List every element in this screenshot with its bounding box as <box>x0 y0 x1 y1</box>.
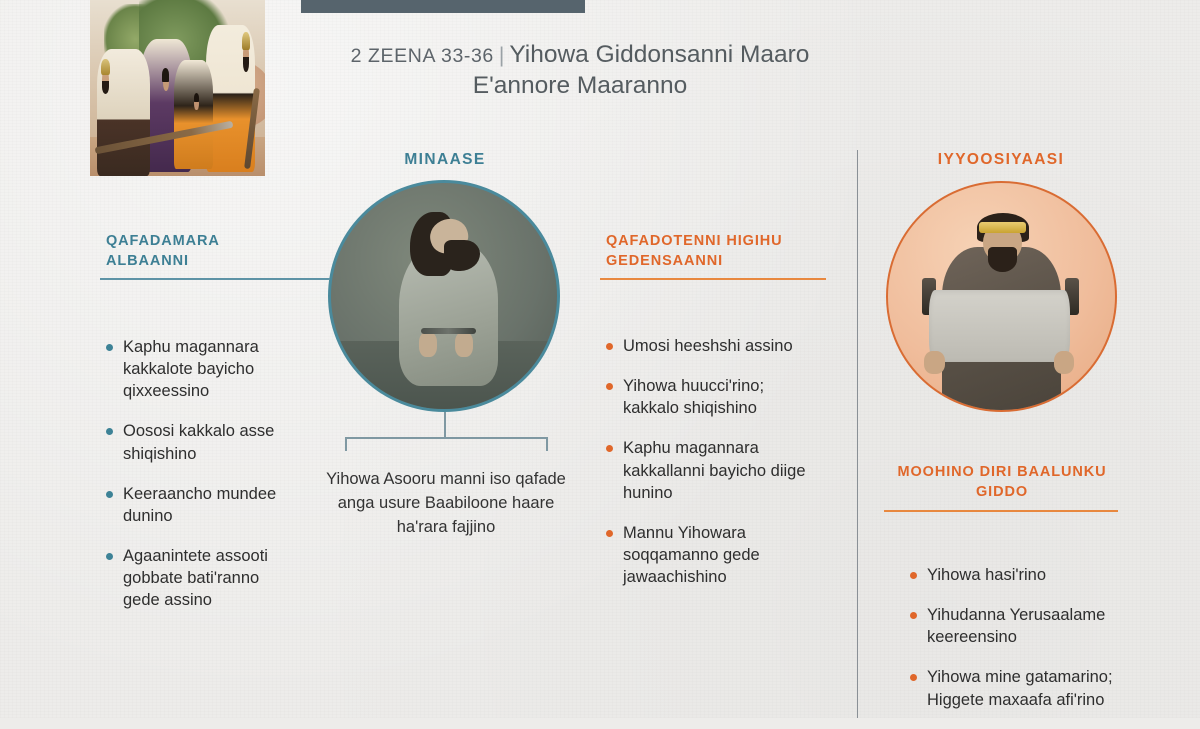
top-accent-bar <box>301 0 585 13</box>
column-left-list: Kaphu magannara kakkalote bayicho qixxee… <box>106 336 281 611</box>
column-after-capture: QAFADOTENNI HIGIHU GEDENSAANNI Umosi hee… <box>606 232 821 606</box>
center-caption: Yihowa Asooru manni iso qafade anga usur… <box>322 468 570 540</box>
list-item: Yihowa mine gatamarino; Higgete maxaafa … <box>910 666 1120 710</box>
soldiers-capturing-man-illustration <box>90 0 265 176</box>
column-left-rule <box>100 278 330 280</box>
title-separator: | <box>494 44 509 67</box>
list-item: Umosi heeshshi assino <box>606 335 821 357</box>
caption-bracket <box>345 412 548 448</box>
king-reading-scroll-portrait <box>886 181 1117 412</box>
list-item: Kaphu magannara kakkallanni bayicho diig… <box>606 437 821 503</box>
column-middle-heading: QAFADOTENNI HIGIHU GEDENSAANNI <box>606 232 821 271</box>
list-item: Yihudanna Yerusaalame keereensino <box>910 604 1120 648</box>
list-item: Yihowa hasi'rino <box>910 564 1120 586</box>
scripture-reference: 2 ZEENA 33-36 <box>351 45 494 67</box>
list-item: Kaphu magannara kakkalote bayicho qixxee… <box>106 336 281 402</box>
column-left-heading: QAFADAMARA ALBAANNI <box>106 232 281 271</box>
list-item: Mannu Yihowara soqqamanno gede jawaachis… <box>606 522 821 588</box>
column-right-heading: MOOHINO DIRI BAALUNKU GIDDO <box>884 463 1120 502</box>
section-vertical-divider <box>857 150 858 718</box>
right-figure-label: IYYOOSIYAASI <box>885 151 1117 169</box>
column-middle-list: Umosi heeshshi assino Yihowa huucci'rino… <box>606 335 821 588</box>
center-figure-label: MINAASE <box>330 151 560 169</box>
column-right-list: Yihowa hasi'rino Yihudanna Yerusaalame k… <box>884 564 1120 711</box>
page-title: 2 ZEENA 33-36|Yihowa Giddonsanni Maaro E… <box>300 40 860 102</box>
column-middle-rule <box>600 278 826 280</box>
list-item: Keeraancho mundee dunino <box>106 483 281 527</box>
list-item: Oososi kakkalo asse shiqishino <box>106 420 281 464</box>
kneeling-chained-man-portrait <box>328 180 560 412</box>
column-before-capture: QAFADAMARA ALBAANNI Kaphu magannara kakk… <box>106 232 281 629</box>
article-title: Yihowa Giddonsanni Maaro E'annore Maaran… <box>473 41 810 99</box>
column-reign-years: MOOHINO DIRI BAALUNKU GIDDO Yihowa hasi'… <box>884 463 1120 729</box>
list-item: Agaanintete assooti gobbate bati'ranno g… <box>106 545 281 611</box>
list-item: Yihowa huucci'rino; kakkalo shiqishino <box>606 375 821 419</box>
column-right-rule <box>884 510 1118 512</box>
